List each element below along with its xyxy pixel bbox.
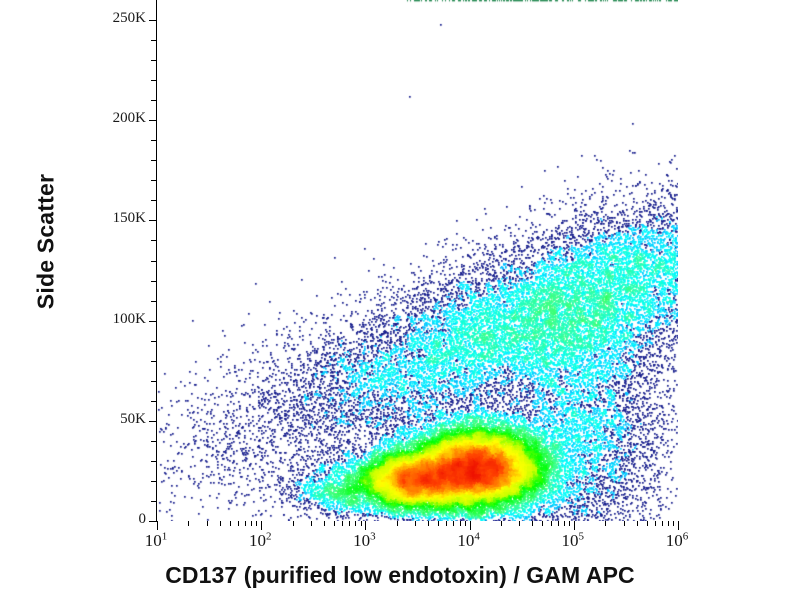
x-tick-minor <box>207 521 208 526</box>
y-tick-label: 0 <box>139 511 147 528</box>
x-tick-minor <box>361 521 362 526</box>
x-tick-minor <box>428 521 429 526</box>
x-tick-major <box>574 521 575 530</box>
x-tick-minor <box>245 521 246 526</box>
x-tick-label: 105 <box>562 531 585 551</box>
x-tick-minor <box>238 521 239 526</box>
x-tick-minor <box>453 521 454 526</box>
x-tick-minor <box>342 521 343 526</box>
y-tick-label: 50K <box>120 411 146 428</box>
x-tick-minor <box>293 521 294 526</box>
x-tick-minor <box>662 521 663 526</box>
x-tick-minor <box>569 521 570 526</box>
x-tick-minor <box>637 521 638 526</box>
x-axis-title: CD137 (purified low endotoxin) / GAM APC <box>0 562 800 589</box>
y-axis-tick-labels: 050K100K150K200K250K <box>80 0 146 521</box>
x-tick-label: 106 <box>666 531 689 551</box>
x-tick-minor <box>460 521 461 526</box>
x-tick-label: 101 <box>145 531 168 551</box>
x-tick-minor <box>624 521 625 526</box>
x-tick-label: 103 <box>353 531 376 551</box>
plot-area <box>156 0 677 521</box>
x-tick-minor <box>256 521 257 526</box>
x-tick-minor <box>438 521 439 526</box>
y-tick-label: 100K <box>113 311 146 328</box>
x-tick-minor <box>647 521 648 526</box>
x-tick-minor <box>446 521 447 526</box>
x-tick-minor <box>519 521 520 526</box>
x-tick-major <box>261 521 262 530</box>
x-tick-minor <box>655 521 656 526</box>
x-tick-minor <box>532 521 533 526</box>
x-tick-minor <box>251 521 252 526</box>
x-tick-minor <box>324 521 325 526</box>
x-tick-minor <box>558 521 559 526</box>
x-tick-major <box>157 521 158 530</box>
x-tick-minor <box>465 521 466 526</box>
x-tick-minor <box>501 521 502 526</box>
x-tick-major <box>678 521 679 530</box>
x-tick-minor <box>349 521 350 526</box>
x-tick-minor <box>542 521 543 526</box>
x-tick-minor <box>668 521 669 526</box>
x-tick-minor <box>220 521 221 526</box>
x-tick-minor <box>334 521 335 526</box>
x-tick-label: 102 <box>249 531 272 551</box>
y-tick-label: 250K <box>113 10 146 27</box>
x-tick-minor <box>230 521 231 526</box>
x-tick-major <box>365 521 366 530</box>
x-tick-minor <box>397 521 398 526</box>
x-tick-minor <box>311 521 312 526</box>
x-tick-major <box>470 521 471 530</box>
x-tick-minor <box>564 521 565 526</box>
y-tick-label: 200K <box>113 110 146 127</box>
x-tick-minor <box>673 521 674 526</box>
flow-cytometry-plot: Side Scatter 050K100K150K200K250K 101102… <box>0 0 800 600</box>
y-tick-label: 150K <box>113 210 146 227</box>
x-tick-minor <box>551 521 552 526</box>
x-tick-minor <box>605 521 606 526</box>
x-tick-minor <box>355 521 356 526</box>
density-scatter-canvas <box>157 0 678 521</box>
x-tick-minor <box>415 521 416 526</box>
x-tick-label: 104 <box>457 531 480 551</box>
y-axis-title: Side Scatter <box>33 0 60 502</box>
x-tick-minor <box>188 521 189 526</box>
